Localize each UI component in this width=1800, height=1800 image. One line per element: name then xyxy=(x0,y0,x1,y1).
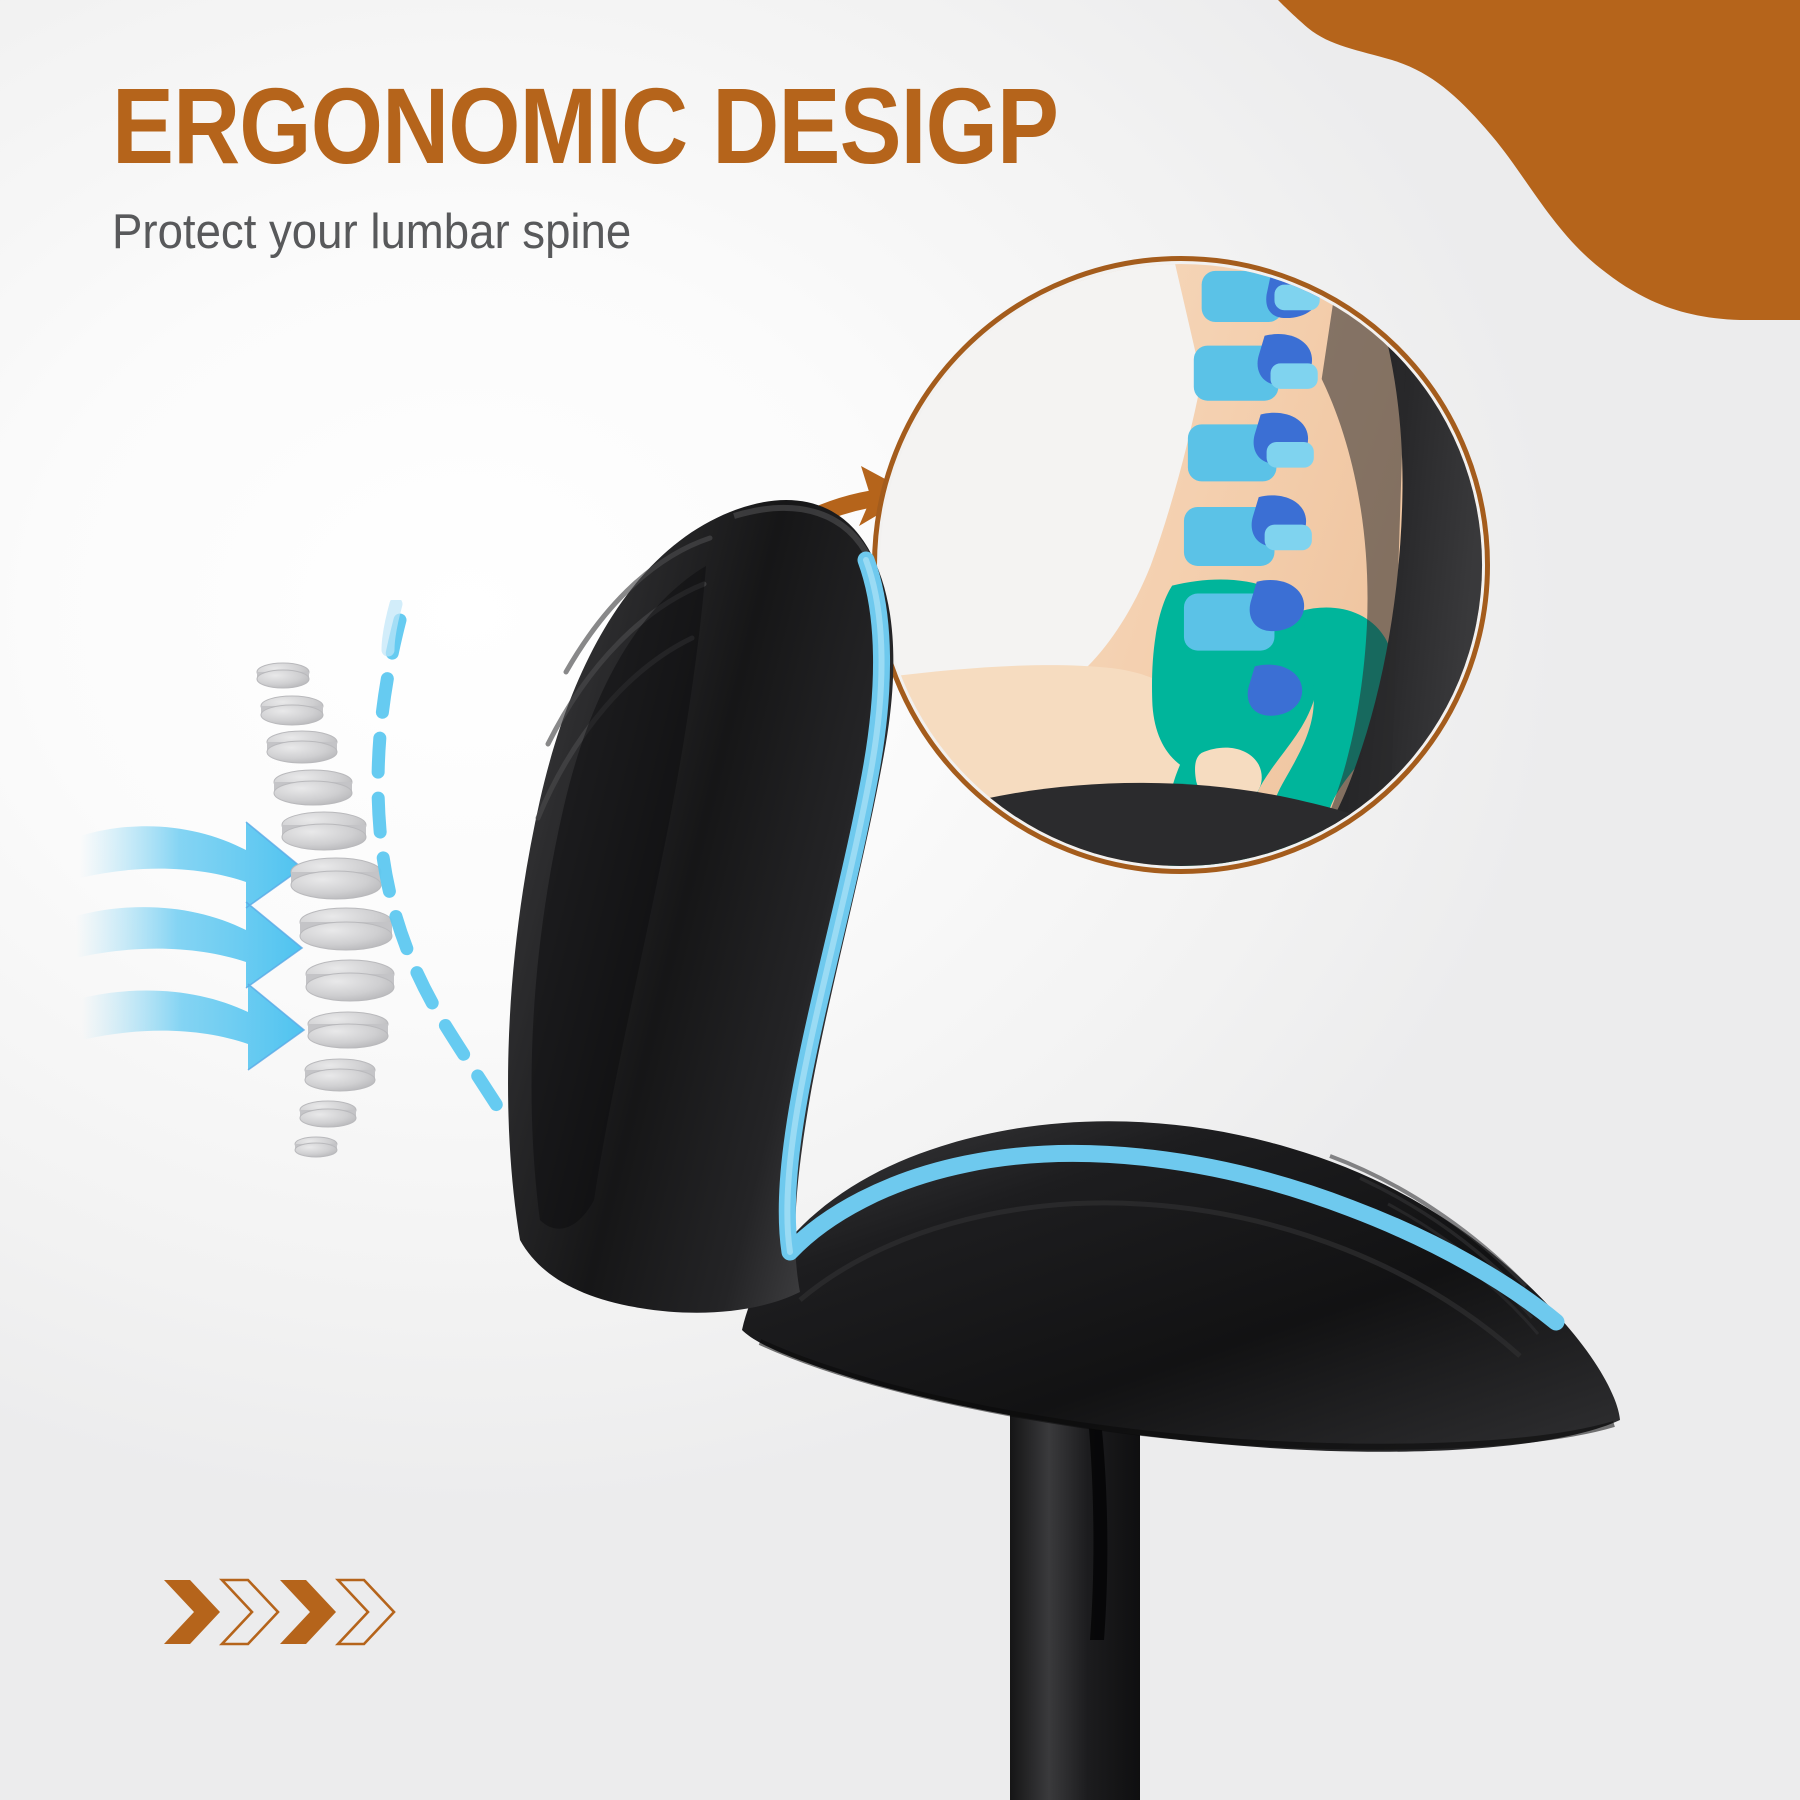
product-feature-poster: ERGONOMIC DESIGP Protect your lumbar spi… xyxy=(0,0,1800,1800)
chevron-decoration xyxy=(160,1572,400,1652)
office-chair-illustration xyxy=(0,0,1800,1800)
chair-gas-cylinder xyxy=(1009,1370,1141,1800)
